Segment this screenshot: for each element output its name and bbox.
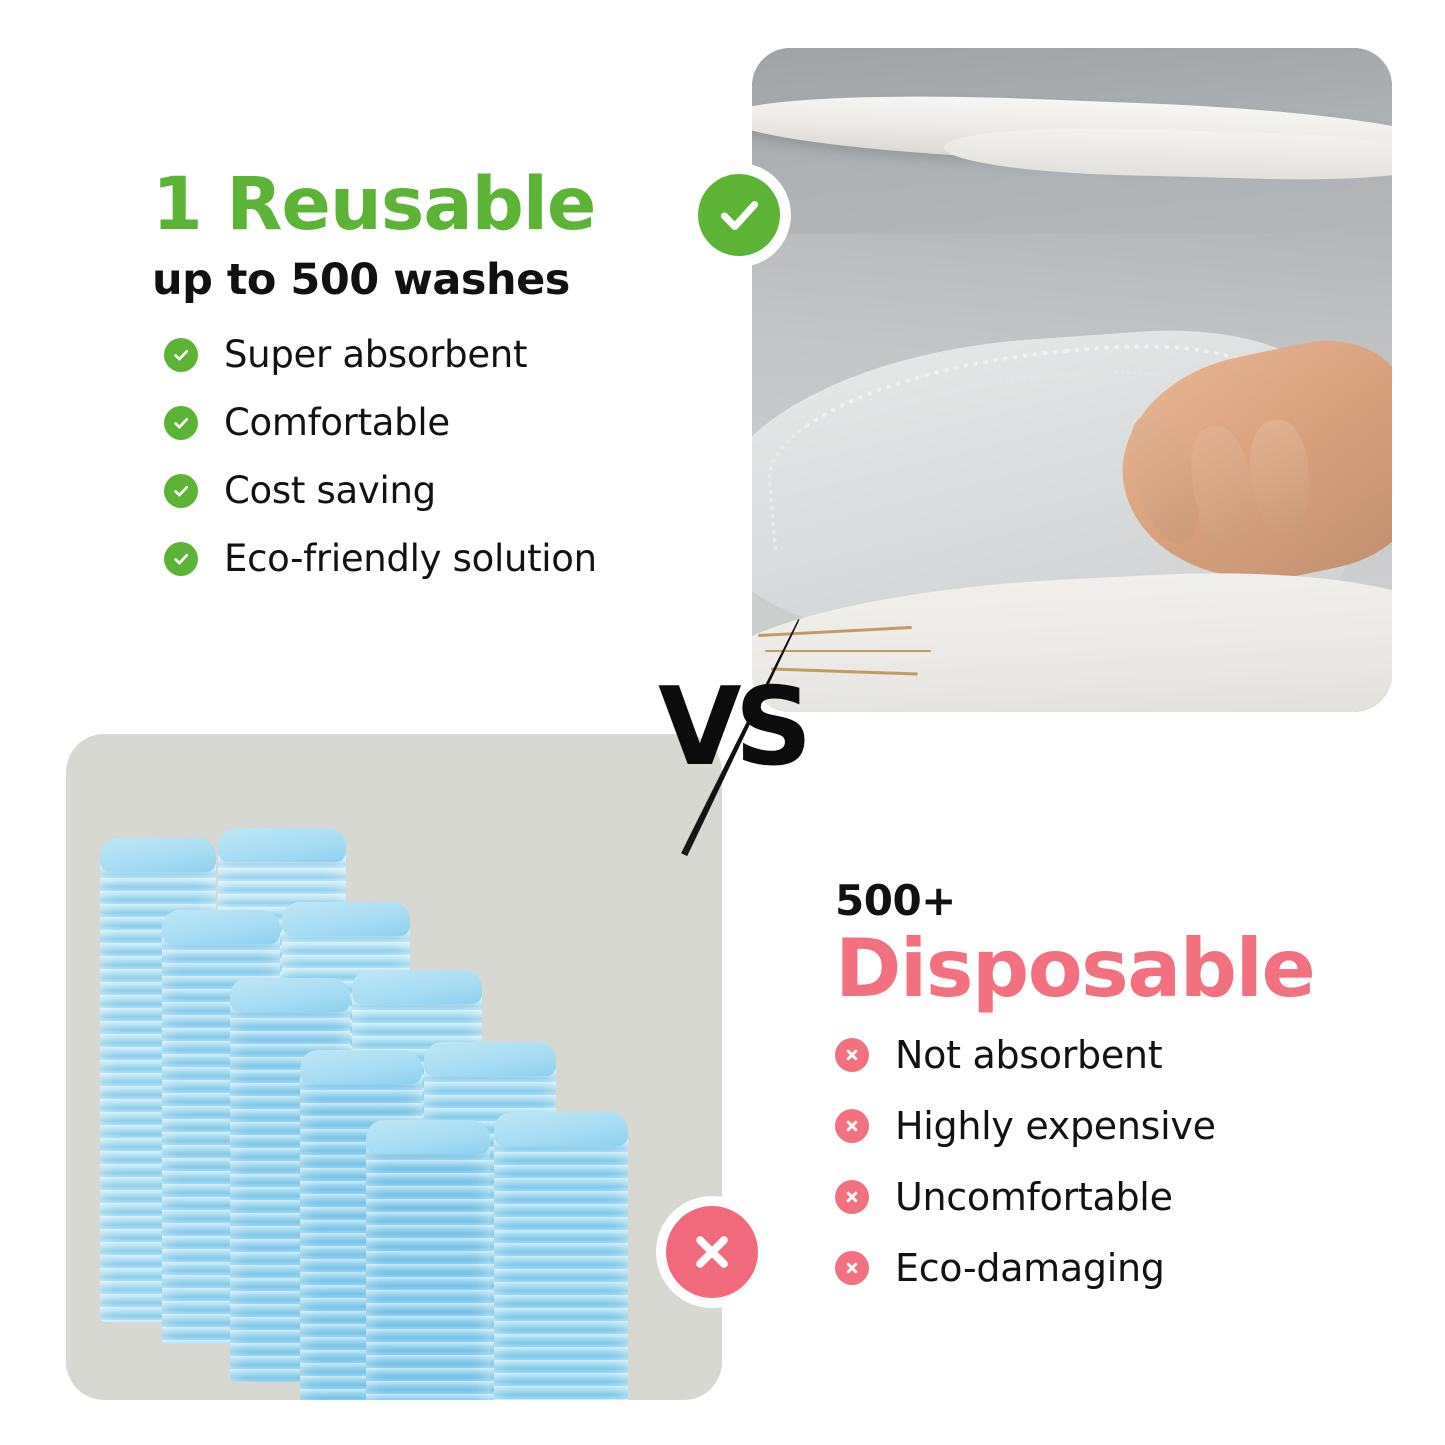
pad-stack-top	[300, 1050, 422, 1084]
list-item: Highly expensive	[835, 1104, 1395, 1148]
pad-stack-top	[282, 902, 410, 936]
pad-stack-top	[162, 910, 280, 944]
list-item-label: Highly expensive	[895, 1104, 1216, 1148]
check-icon	[164, 338, 198, 372]
reusable-title: 1 Reusable	[152, 168, 712, 241]
x-icon	[835, 1251, 869, 1285]
list-item-label: Uncomfortable	[895, 1175, 1173, 1219]
list-item: Super absorbent	[164, 333, 712, 376]
reusable-section: 1 Reusable up to 500 washes Super absorb…	[152, 168, 712, 605]
x-icon	[835, 1180, 869, 1214]
pad-stack-top	[230, 978, 350, 1012]
pad-stack-top	[100, 838, 216, 872]
list-item: Comfortable	[164, 401, 712, 444]
pad-stack-top	[494, 1112, 628, 1146]
disposable-drawbacks-list: Not absorbent Highly expensive Uncomfort…	[835, 1033, 1395, 1290]
pad-stack-top	[366, 1120, 490, 1154]
list-item-label: Eco-damaging	[895, 1246, 1165, 1290]
disposable-product-photo	[66, 734, 722, 1400]
check-icon	[164, 474, 198, 508]
pad-stack-top	[352, 970, 482, 1004]
disposable-title: Disposable	[835, 927, 1395, 1011]
list-item-label: Super absorbent	[224, 333, 527, 376]
disposable-section: 500+ Disposable Not absorbent Highly exp…	[835, 876, 1395, 1317]
list-item: Not absorbent	[835, 1033, 1395, 1077]
versus-divider: VS	[652, 596, 832, 886]
pad-stack	[494, 1126, 628, 1400]
x-circle-badge	[656, 1196, 768, 1308]
infographic-canvas: VS 1 Reusable up to 500 washes Super abs…	[0, 0, 1445, 1445]
reusable-product-photo	[752, 48, 1392, 712]
pad-stack	[366, 1134, 490, 1400]
list-item: Eco-damaging	[835, 1246, 1395, 1290]
versus-label: VS	[658, 674, 805, 782]
pad-stack-top	[218, 828, 346, 862]
list-item: Uncomfortable	[835, 1175, 1395, 1219]
list-item-label: Cost saving	[224, 469, 436, 512]
x-icon	[835, 1109, 869, 1143]
check-icon	[164, 542, 198, 576]
reusable-subtitle: up to 500 washes	[152, 255, 712, 305]
pad-stack-top	[424, 1042, 556, 1076]
x-circle-icon	[666, 1206, 758, 1298]
disposable-count: 500+	[835, 876, 1395, 925]
x-icon	[835, 1038, 869, 1072]
list-item-label: Comfortable	[224, 401, 450, 444]
list-item-label: Not absorbent	[895, 1033, 1162, 1077]
list-item: Eco-friendly solution	[164, 537, 712, 580]
list-item-label: Eco-friendly solution	[224, 537, 597, 580]
list-item: Cost saving	[164, 469, 712, 512]
check-icon	[164, 406, 198, 440]
reusable-benefits-list: Super absorbent Comfortable Cost saving	[164, 333, 712, 580]
